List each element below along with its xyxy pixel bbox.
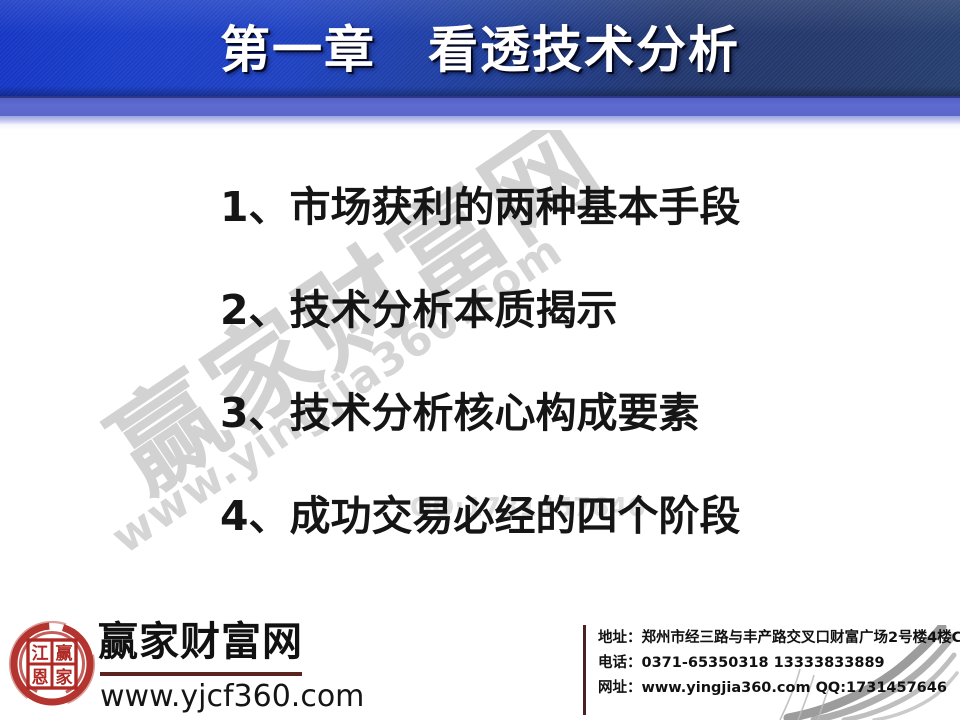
contact-accent-bar: [583, 625, 586, 715]
list-item: 4、成功交易必经的四个阶段: [220, 496, 741, 537]
seal-char: 江: [32, 644, 49, 664]
seal-char: 赢: [56, 643, 73, 664]
contact-label: 网址：: [598, 680, 642, 696]
contact-line-phone: 电话：0371-65350318 13333833889: [598, 651, 958, 676]
footer: 江 赢 恩 家 赢家财富网 www.yjcf360.com 地址：郑州市经三路与…: [0, 600, 960, 720]
company-seal-logo: 江 赢 恩 家: [8, 618, 96, 710]
header-separator-band-secondary: [0, 116, 960, 124]
slide-canvas: 第一章 看透技术分析 赢家财富网 www.yingjia360.com QQ:1…: [0, 0, 960, 720]
contact-value: www.yingjia360.com QQ:1731457646: [642, 680, 947, 696]
list-item: 2、技术分析本质揭示: [220, 290, 618, 331]
header-separator-hairline: [0, 96, 960, 98]
seal-char: 恩: [32, 668, 49, 688]
list-item: 1、市场获利的两种基本手段: [220, 187, 741, 228]
agenda-list: 1、市场获利的两种基本手段 2、技术分析本质揭示 3、技术分析核心构成要素 4、…: [0, 130, 960, 580]
brand-url: www.yjcf360.com: [100, 682, 364, 712]
contact-line-address: 地址：郑州市经三路与丰产路交叉口财富广场2号楼4楼C户: [598, 626, 958, 651]
contact-info-block: 地址：郑州市经三路与丰产路交叉口财富广场2号楼4楼C户 电话：0371-6535…: [598, 626, 958, 701]
contact-value: 0371-65350318 13333833889: [642, 655, 885, 671]
header-bottom-shade: [0, 86, 960, 96]
seal-char: 家: [56, 667, 73, 688]
list-item: 3、技术分析核心构成要素: [220, 393, 700, 434]
page-title: 第一章 看透技术分析: [0, 22, 960, 78]
header-separator-band-primary: [0, 96, 960, 116]
brand-divider: [100, 672, 302, 676]
contact-value: 郑州市经三路与丰产路交叉口财富广场2号楼4楼C户: [642, 630, 960, 646]
contact-label: 电话：: [598, 655, 642, 671]
contact-label: 地址：: [598, 630, 642, 646]
brand-name: 赢家财富网: [98, 622, 303, 662]
contact-line-website: 网址：www.yingjia360.com QQ:1731457646: [598, 676, 958, 701]
